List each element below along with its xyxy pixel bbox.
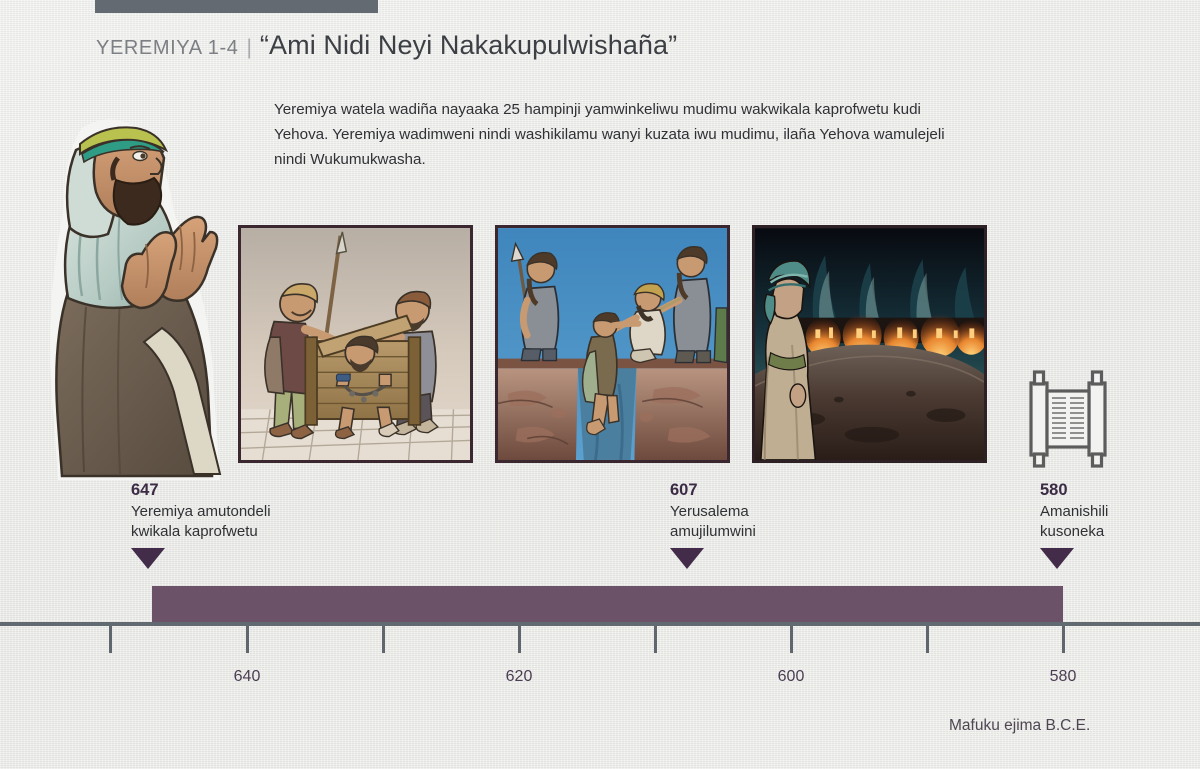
axis-tick <box>654 626 657 653</box>
timeline-period-bar <box>152 586 1063 622</box>
marker-description: Yeremiya amutondeli kwikala kaprofwetu <box>131 502 271 542</box>
axis-tick-label: 620 <box>506 668 533 686</box>
praying-prophet-figure <box>24 92 240 480</box>
axis-tick <box>382 626 385 653</box>
axis-tick-label: 640 <box>234 668 261 686</box>
timeline-marker-607: 607 Yerusalema amujilumwini <box>670 480 756 569</box>
marker-triangle-icon <box>670 548 704 569</box>
marker-year: 607 <box>670 480 756 501</box>
scripture-reference: YEREMIYA 1-4 <box>96 37 238 60</box>
scroll-icon <box>1022 370 1114 468</box>
marker-description: Amanishili kusoneka <box>1040 502 1108 542</box>
timeline-marker-580: 580 Amanishili kusoneka <box>1040 480 1108 569</box>
body-paragraph: Yeremiya watela wadiña nayaaka 25 hampin… <box>274 97 946 172</box>
jerusalem-burning-illustration <box>752 225 987 463</box>
page-title: YEREMIYA 1-4 | “Ami Nidi Neyi Nakakupulw… <box>96 30 677 61</box>
axis-tick-label: 580 <box>1050 668 1077 686</box>
marker-triangle-icon <box>131 548 165 569</box>
axis-tick <box>926 626 929 653</box>
axis-tick <box>246 626 249 653</box>
marker-year: 580 <box>1040 480 1108 501</box>
marker-triangle-icon <box>1040 548 1074 569</box>
axis-tick <box>109 626 112 653</box>
axis-tick <box>518 626 521 653</box>
title-separator: | <box>246 36 251 60</box>
axis-caption: Mafuku ejima B.C.E. <box>949 717 1090 735</box>
title-text: “Ami Nidi Neyi Nakakupulwishaña” <box>260 30 677 61</box>
timeline-axis <box>0 622 1200 626</box>
marker-year: 647 <box>131 480 271 501</box>
axis-tick-label: 600 <box>778 668 805 686</box>
axis-tick <box>790 626 793 653</box>
jeremiah-rescued-from-cistern-illustration <box>495 225 730 463</box>
top-rule <box>95 0 378 13</box>
marker-description: Yerusalema amujilumwini <box>670 502 756 542</box>
timeline-marker-647: 647 Yeremiya amutondeli kwikala kaprofwe… <box>131 480 271 569</box>
axis-tick <box>1062 626 1065 653</box>
jeremiah-in-stocks-illustration <box>238 225 473 463</box>
